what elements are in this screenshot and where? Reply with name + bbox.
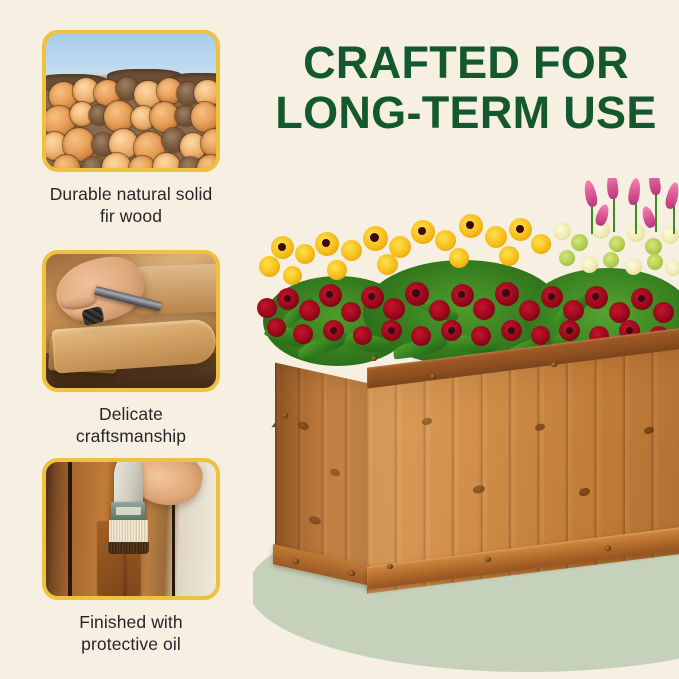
planter-screw bbox=[485, 557, 491, 562]
feature-card-protective-oil: Finished with protective oil bbox=[42, 458, 220, 655]
product-panel: CRAFTED FOR LONG-TERM USE bbox=[253, 0, 679, 679]
feature-caption-craftsmanship: Delicate craftsmanship bbox=[42, 403, 220, 447]
planter-screw bbox=[349, 571, 355, 576]
planter-screw bbox=[605, 546, 611, 551]
craftsmanship-photo bbox=[46, 254, 216, 388]
headline: CRAFTED FOR LONG-TERM USE bbox=[253, 38, 679, 138]
planter-box bbox=[275, 345, 679, 595]
feature-caption-durable-wood: Durable natural solid fir wood bbox=[42, 183, 220, 227]
product-feature-graphic: Durable natural solid fir wood Delicate … bbox=[0, 0, 679, 679]
feature-caption-protective-oil: Finished with protective oil bbox=[42, 611, 220, 655]
feature-card-durable-wood: Durable natural solid fir wood bbox=[42, 30, 220, 227]
planter-screw bbox=[282, 413, 288, 418]
planter-screw bbox=[551, 362, 557, 367]
feature-image-logs bbox=[42, 30, 220, 172]
feature-list: Durable natural solid fir wood Delicate … bbox=[0, 0, 253, 679]
logs-photo bbox=[46, 34, 216, 168]
planter-screw bbox=[387, 564, 393, 569]
feature-image-craftsmanship bbox=[42, 250, 220, 392]
planter-screw bbox=[371, 356, 377, 361]
protective-oil-photo bbox=[46, 462, 216, 596]
planter-screw bbox=[430, 374, 436, 379]
feature-card-craftsmanship: Delicate craftsmanship bbox=[42, 250, 220, 447]
planter-screw bbox=[293, 559, 299, 564]
feature-image-protective-oil bbox=[42, 458, 220, 600]
